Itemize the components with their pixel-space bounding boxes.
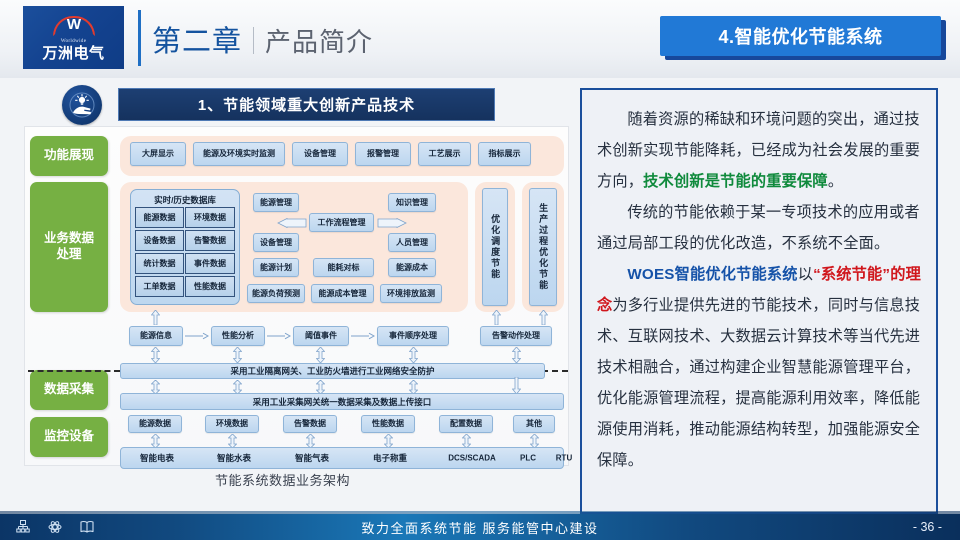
arrow-dev-3: [306, 434, 315, 448]
description-panel: 随着资源的稀缺和环境问题的突出，通过技术创新实现节能降耗，已经成为社会发展的重要…: [580, 88, 938, 514]
business-box-benchmark[interactable]: 能耗对标: [313, 258, 374, 277]
data-type-6[interactable]: 其他: [513, 415, 555, 433]
db-cell-3[interactable]: 设备数据: [135, 230, 184, 251]
function-box-3[interactable]: 设备管理: [292, 142, 348, 166]
header-divider: [138, 10, 141, 66]
device-1[interactable]: 智能电表: [140, 452, 174, 464]
arrow-up-2: [492, 310, 501, 325]
page-title: 4.智能优化节能系统: [660, 16, 941, 56]
layer-label-function: 功能展现: [30, 136, 108, 176]
vertical-box-process[interactable]: 生产过程优化节能: [529, 188, 557, 306]
arrow-up-3: [539, 310, 548, 325]
arrow-dev-6: [530, 434, 539, 448]
function-box-6[interactable]: 指标展示: [478, 142, 531, 166]
arrow-gw-1: [151, 380, 160, 394]
arrow-dbl-3: [316, 347, 325, 363]
process-box-threshold-event[interactable]: 阈值事件: [293, 326, 349, 346]
db-cell-4[interactable]: 告警数据: [185, 230, 235, 251]
business-box-workflow-mgmt[interactable]: 工作流程管理: [309, 213, 374, 232]
slide-header: W Worldwide 万洲电气 第二章 产品简介 4.智能优化节能系统: [0, 0, 960, 78]
paragraph-1: 随着资源的稀缺和环境问题的突出，通过技术创新实现节能降耗，已经成为社会发展的重要…: [597, 104, 921, 197]
business-box-emission-monitor[interactable]: 环境排放监测: [380, 284, 442, 303]
paragraph-2: 传统的节能依赖于某一专项技术的应用或者通过局部工段的优化改造，不系统不全面。: [597, 197, 921, 259]
arrow-gw-3: [316, 380, 325, 394]
database-title: 实时/历史数据库: [131, 194, 239, 206]
para1-highlight-green: 技术创新是节能的重要保障: [643, 173, 828, 190]
device-6[interactable]: PLC: [520, 454, 536, 463]
logo-english-name: Worldwide: [61, 38, 87, 44]
slide-footer: 致力全面系统节能 服务能管中心建设 - 36 -: [0, 514, 960, 540]
layer-label-monitor: 监控设备: [30, 417, 108, 457]
dashed-divider-left: [28, 370, 120, 372]
arrow-process-1: [185, 332, 209, 340]
device-7[interactable]: RTU: [556, 454, 572, 463]
breadcrumb: 第二章 产品简介: [152, 18, 373, 60]
process-box-perf-analysis[interactable]: 性能分析: [211, 326, 265, 346]
arrow-gw-4: [409, 380, 418, 394]
business-box-energy-plan[interactable]: 能源计划: [253, 258, 299, 277]
logo-mark-letter: W: [52, 15, 96, 37]
chapter-name: 产品简介: [265, 22, 373, 59]
dashed-divider-right: [542, 370, 568, 372]
arrow-dev-4: [384, 434, 393, 448]
page-number: - 36 -: [913, 514, 942, 540]
arrow-dbl-2: [233, 347, 242, 363]
db-cell-5[interactable]: 统计数据: [135, 253, 184, 274]
business-box-staff-mgmt[interactable]: 人员管理: [388, 233, 436, 252]
para3-text-a: 以: [798, 266, 813, 283]
db-cell-1[interactable]: 能源数据: [135, 207, 184, 228]
function-box-5[interactable]: 工艺展示: [418, 142, 471, 166]
gateway-bar[interactable]: 采用工业采集网关统一数据采集及数据上传接口: [120, 393, 564, 410]
logo-w-icon: W: [52, 15, 96, 37]
footer-slogan: 致力全面系统节能 服务能管中心建设: [0, 514, 960, 540]
data-type-1[interactable]: 能源数据: [128, 415, 182, 433]
data-type-3[interactable]: 告警数据: [283, 415, 337, 433]
arrow-process-2: [267, 332, 291, 340]
devices-bar: 智能电表 智能水表 智能气表 电子称重 DCS/SCADA PLC RTU 其他: [120, 447, 564, 469]
arrow-dbl-1: [151, 347, 160, 363]
function-box-4[interactable]: 报警管理: [355, 142, 411, 166]
hand-bulb-icon: [62, 85, 102, 125]
chapter-number: 第二章: [152, 18, 242, 60]
slide: W Worldwide 万洲电气 第二章 产品简介 4.智能优化节能系统: [0, 0, 960, 540]
arrow-to-workflow-right: [377, 218, 407, 228]
device-5[interactable]: DCS/SCADA: [448, 454, 496, 463]
layer-label-collection: 数据采集: [30, 370, 108, 410]
page-title-badge: 4.智能优化节能系统: [660, 16, 946, 60]
business-box-device-mgmt[interactable]: 设备管理: [253, 233, 299, 252]
section-banner-title: 1、节能领域重大创新产品技术: [118, 88, 495, 121]
device-3[interactable]: 智能气表: [295, 452, 329, 464]
arrow-dbl-4: [409, 347, 418, 363]
arrow-up-1: [151, 310, 160, 325]
db-cell-8[interactable]: 性能数据: [185, 276, 235, 297]
device-2[interactable]: 智能水表: [217, 452, 251, 464]
arrow-dev-5: [462, 434, 471, 448]
paragraph-3: WOES智能优化节能系统以“系统节能”的理念为多行业提供先进的节能技术，同时与信…: [597, 259, 921, 476]
arrow-dev-2: [228, 434, 237, 448]
data-type-5[interactable]: 配置数据: [439, 415, 493, 433]
layer-label-business: 业务数据 处理: [30, 182, 108, 312]
para3-highlight-blue: WOES智能优化节能系统: [627, 266, 797, 283]
arrow-gw-5: [512, 377, 521, 394]
business-box-load-forecast[interactable]: 能源负荷预测: [247, 284, 305, 303]
db-cell-7[interactable]: 工单数据: [135, 276, 184, 297]
process-box-event-sequence[interactable]: 事件顺序处理: [377, 326, 449, 346]
vertical-box-scheduling[interactable]: 优化调度节能: [482, 188, 508, 306]
business-box-cost-mgmt[interactable]: 能源成本管理: [311, 284, 374, 303]
arrow-dev-1: [151, 434, 160, 448]
architecture-diagram: 功能展现 业务数据 处理 数据采集 监控设备 大屏显示 能源及环境实时监测 设备…: [24, 126, 569, 466]
function-box-2[interactable]: 能源及环境实时监测: [193, 142, 285, 166]
business-box-energy-cost[interactable]: 能源成本: [388, 258, 436, 277]
diagram-caption: 节能系统数据业务架构: [215, 470, 350, 489]
db-cell-6[interactable]: 事件数据: [185, 253, 235, 274]
arrow-to-workflow-left: [277, 218, 307, 228]
data-type-4[interactable]: 性能数据: [361, 415, 415, 433]
para1-text-b: 。: [828, 173, 843, 190]
function-box-1[interactable]: 大屏显示: [130, 142, 186, 166]
company-logo: W Worldwide 万洲电气: [23, 6, 124, 69]
arrow-process-3: [351, 332, 375, 340]
db-cell-2[interactable]: 环境数据: [185, 207, 235, 228]
business-box-knowledge-mgmt[interactable]: 知识管理: [388, 193, 436, 212]
chapter-separator: [253, 27, 254, 54]
data-type-2[interactable]: 环境数据: [205, 415, 259, 433]
arrow-gw-2: [233, 380, 242, 394]
device-4[interactable]: 电子称重: [373, 452, 407, 464]
logo-chinese-name: 万洲电气: [42, 46, 104, 61]
para3-text-b: 为多行业提供先进的节能技术，同时与信息技术、互联网技术、大数据云计算技术等当代先…: [597, 297, 920, 469]
section-banner: 1、节能领域重大创新产品技术: [118, 88, 495, 121]
process-box-energy-info[interactable]: 能源信息: [129, 326, 183, 346]
security-bar[interactable]: 采用工业隔离网关、工业防火墙进行工业网络安全防护: [120, 363, 545, 379]
arrow-dbl-5: [512, 347, 521, 363]
process-box-alarm-action[interactable]: 告警动作处理: [480, 326, 552, 346]
business-box-energy-mgmt[interactable]: 能源管理: [253, 193, 299, 212]
